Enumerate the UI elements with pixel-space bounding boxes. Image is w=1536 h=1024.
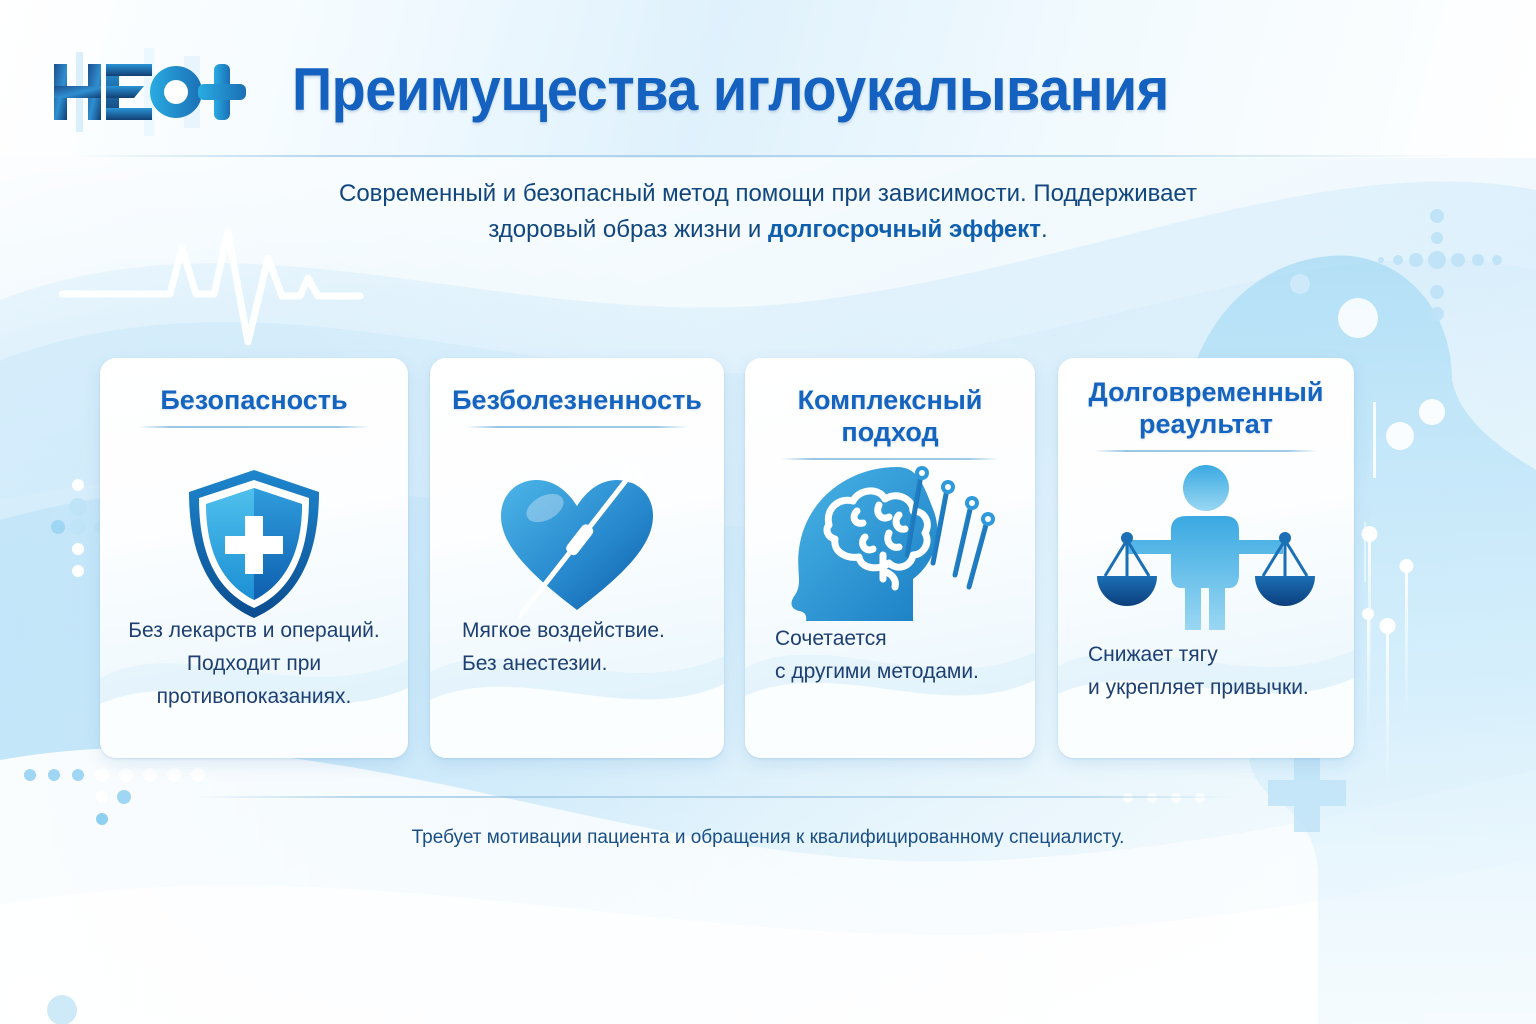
head-brain-needles-icon (745, 454, 1035, 634)
card-title: Комплексный подход (757, 384, 1023, 448)
benefit-card-painless[interactable]: Безболезненность (430, 358, 724, 758)
page-header: НЕО+ Преимущества иглоукалывания (0, 0, 1536, 158)
card-title-divider (466, 426, 687, 428)
card-title-divider (138, 426, 371, 428)
card-title: Безболезненность (442, 384, 712, 416)
benefit-card-complex-approach[interactable]: Комплексный подход (745, 358, 1035, 758)
card-title: Безопасность (112, 384, 396, 416)
header-divider (78, 155, 1458, 157)
card-body: Без лекарств и операций. Подходит при пр… (100, 614, 408, 713)
benefit-cards: Безопасность (100, 358, 1420, 758)
footer-note: Требует мотивации пациента и обращения к… (268, 824, 1268, 852)
card-body: Снижает тягу и укрепляет привычки. (1058, 638, 1354, 704)
card-title-divider (1094, 450, 1317, 452)
benefit-card-safety[interactable]: Безопасность (100, 358, 408, 758)
card-body-line-1: Без лекарств и операций. (118, 614, 390, 647)
card-title-line-1: Долговременный (1089, 377, 1324, 407)
balance-scales-person-icon (1058, 454, 1354, 634)
card-body-line-1: Сочетается (775, 622, 1017, 655)
card-header: Долговременный реаультат (1058, 376, 1354, 452)
shield-cross-icon (100, 454, 408, 634)
card-title-line-2: реаультат (1139, 409, 1273, 439)
card-body-line-1: Мягкое воздействие. (462, 614, 706, 647)
subtitle-highlight: долгосрочный эффект (768, 216, 1041, 243)
brand-logo[interactable]: НЕО+ (48, 48, 256, 136)
card-body-line-3: противопоказаниях. (118, 680, 390, 713)
card-header: Безопасность (100, 384, 408, 428)
infographic-slide: НЕО+ Преимущества иглоукалывания Совреме… (0, 0, 1536, 1024)
subtitle-line-2-prefix: здоровый образ жизни и (488, 216, 768, 243)
card-body-line-1: Снижает тягу (1088, 638, 1336, 671)
card-body-line-2: и укрепляет привычки. (1088, 671, 1336, 704)
page-title: Преимущества иглоукалывания (292, 55, 1169, 124)
subtitle-line-2-suffix: . (1041, 216, 1048, 243)
card-body-line-2: с другими методами. (775, 655, 1017, 688)
card-body-line-2: Без анестезии. (462, 647, 706, 680)
page-subtitle: Современный и безопасный метод помощи пр… (268, 176, 1268, 248)
card-body-line-2: Подходит при (118, 647, 390, 680)
card-header: Комплексный подход (745, 384, 1035, 460)
footer-divider (196, 796, 1236, 798)
heart-needle-icon (430, 454, 724, 634)
subtitle-line-1: Современный и безопасный метод помощи пр… (339, 180, 1197, 207)
card-header: Безболезненность (430, 384, 724, 428)
card-body: Сочетается с другими методами. (745, 622, 1035, 688)
card-body: Мягкое воздействие. Без анестезии. (430, 614, 724, 680)
card-title: Долговременный реаультат (1070, 376, 1342, 440)
benefit-card-long-term-result[interactable]: Долговременный реаультат (1058, 358, 1354, 758)
